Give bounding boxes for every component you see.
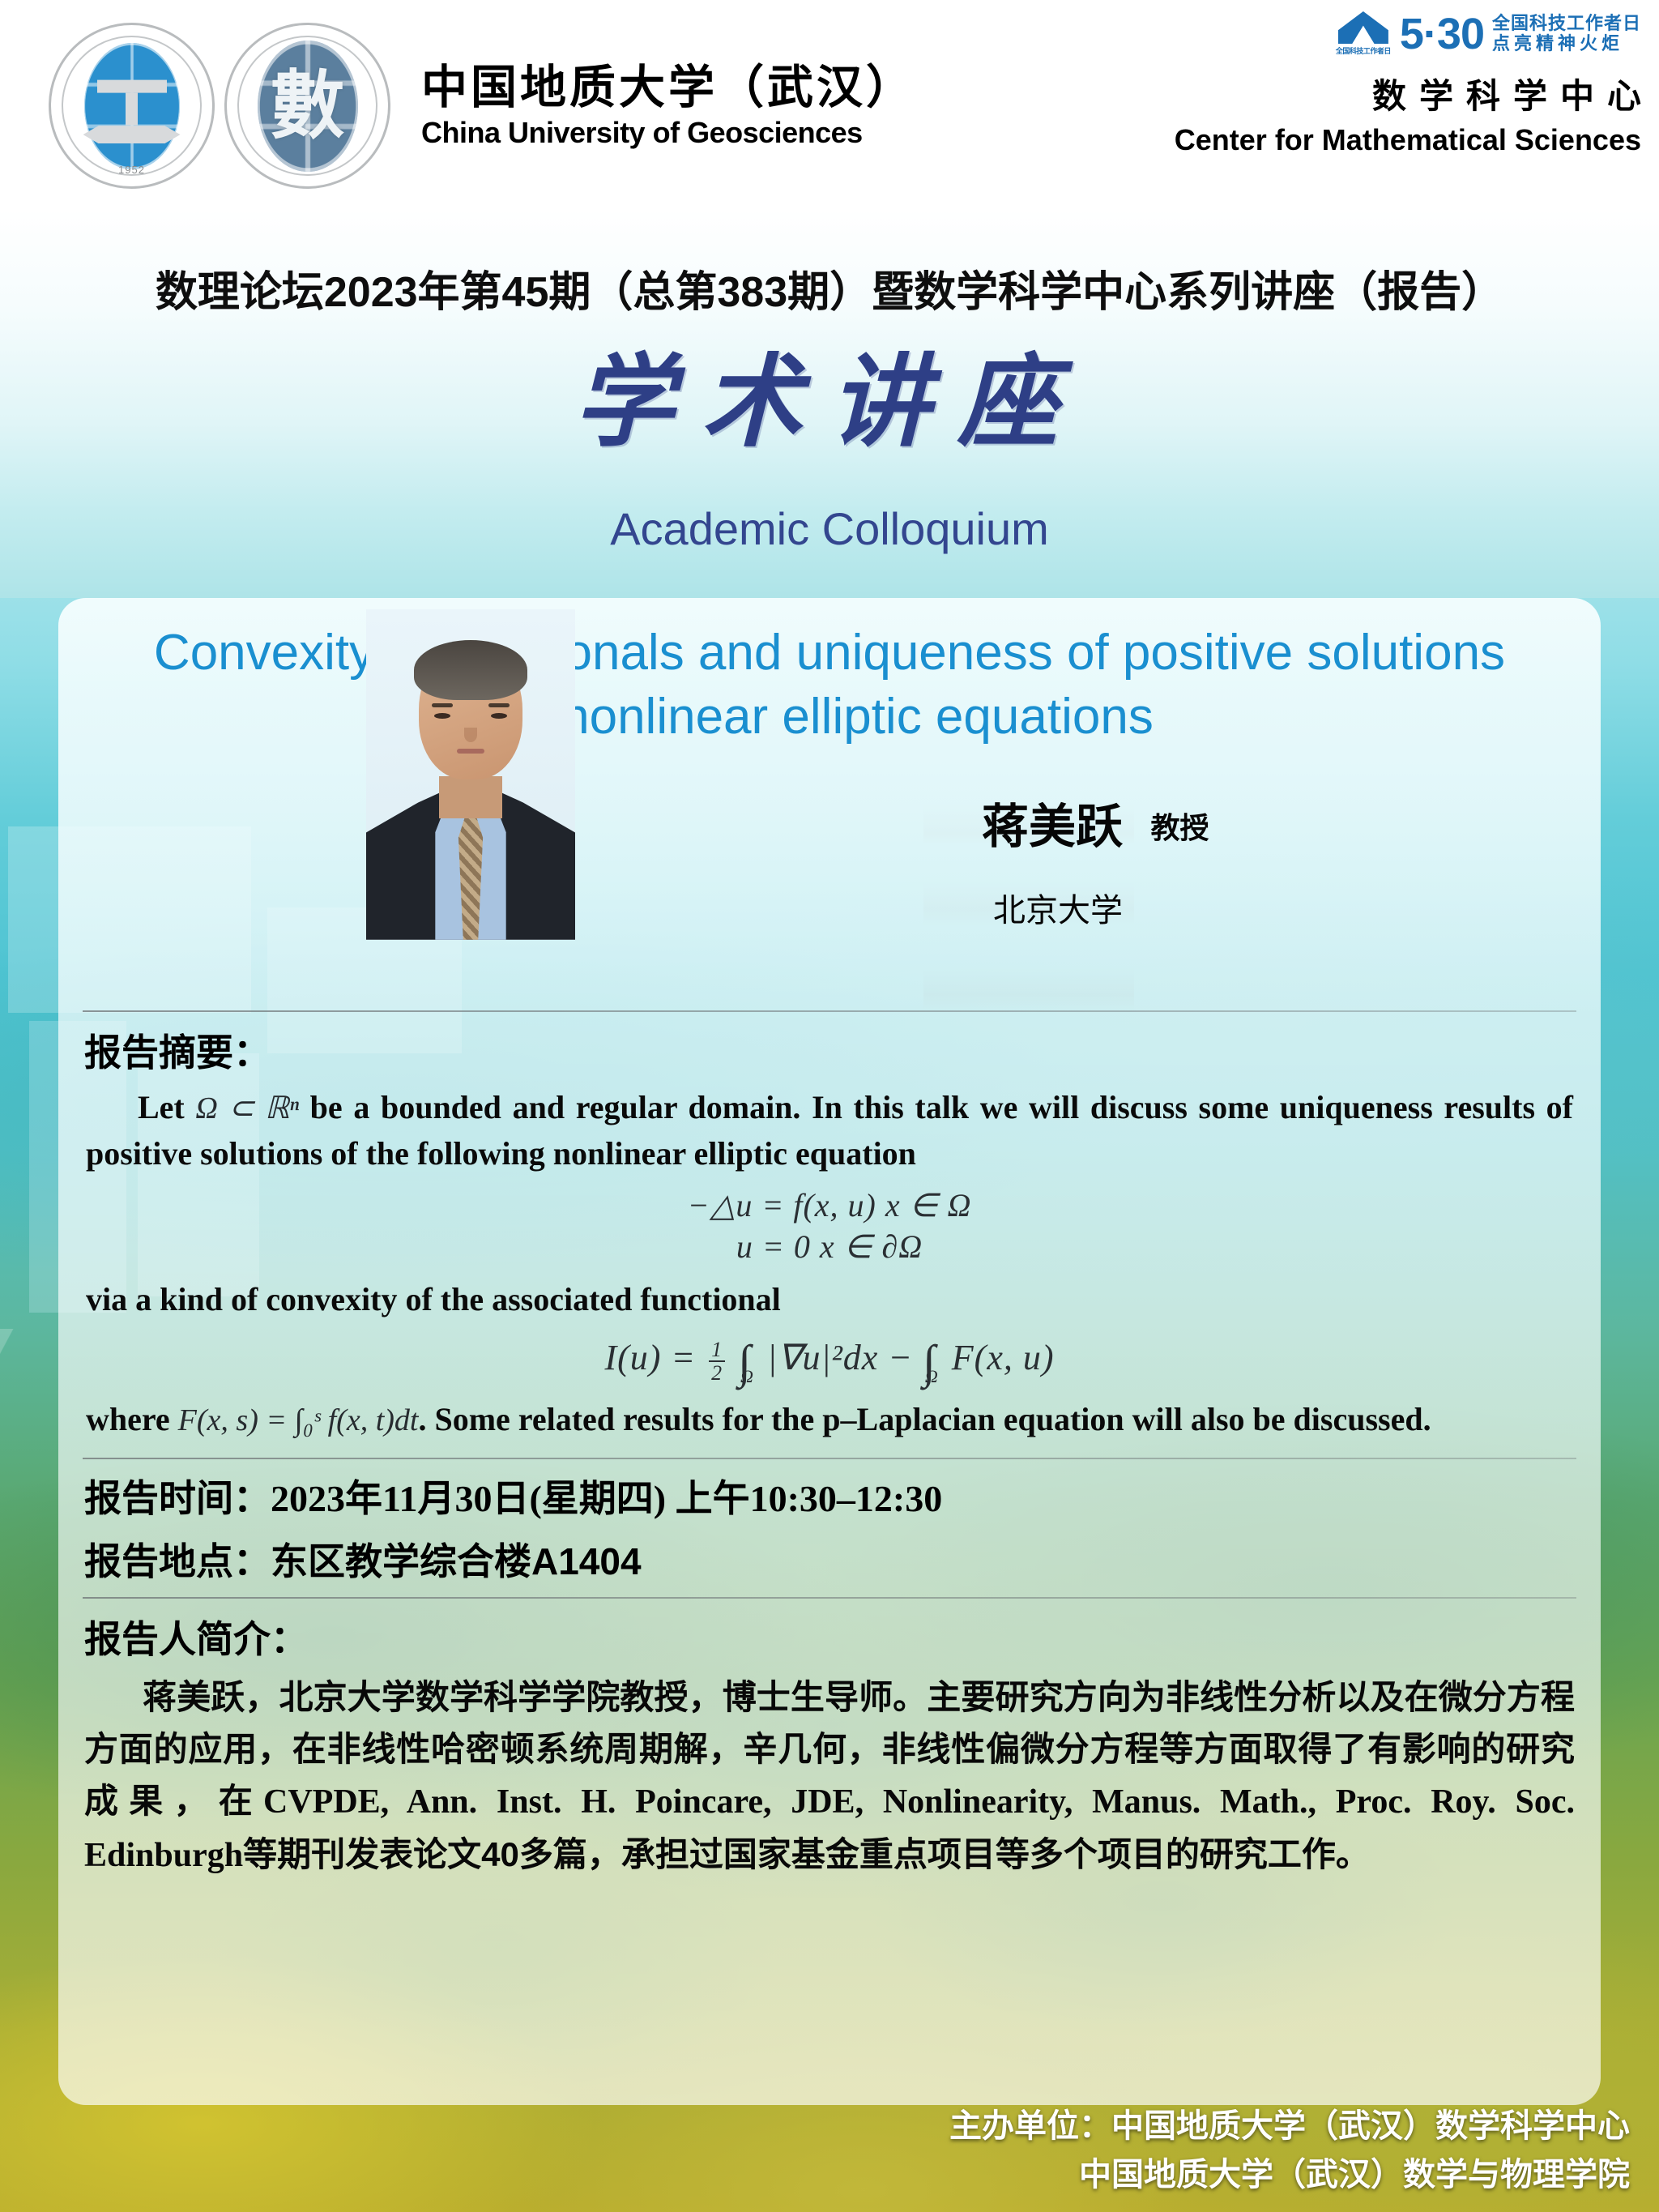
university-name-en: China University of Geosciences <box>421 115 915 150</box>
talk-time-line: 报告时间：2023年11月30日(星期四) 上午10:30–12:30 <box>84 1469 1601 1522</box>
eq3-mid: |∇u|²dx − <box>767 1338 913 1377</box>
equation-1: −△u = f(x, u) x ∈ Ω <box>58 1186 1601 1224</box>
university-name-cn: 中国地质大学（武汉） <box>421 62 915 115</box>
abstract-paragraph-3: where F(x, s) = ∫₀ˢ f(x, t)dt. Some rela… <box>58 1397 1601 1443</box>
science-day-slogan: 全国科技工作者日 点亮精神火炬 <box>1492 14 1641 53</box>
eq3-int2-sub: Ω <box>925 1366 939 1386</box>
bio-heading: 报告人简介： <box>84 1610 1601 1663</box>
bio-text-b: 等期刊发表论文40多篇，承担过国家基金重点项目等多个项目的研究工作。 <box>243 1835 1370 1873</box>
center-name-en: Center for Mathematical Sciences <box>1175 123 1641 157</box>
poster-root: 1952 數 中国地质大学（武汉） China University of Ge… <box>0 0 1659 2212</box>
math-seal-glyph: 數 <box>270 69 344 143</box>
abstract-p1-a: Let <box>138 1089 195 1125</box>
cug-seal-year: 1952 <box>118 164 145 176</box>
talk-time-label: 报告时间： <box>84 1477 271 1519</box>
math-school-seal-icon: 數 <box>224 23 390 189</box>
science-day-slogan-line1: 全国科技工作者日 <box>1492 14 1641 34</box>
abstract-p1-b: be a bounded and regular domain. In this… <box>86 1089 1573 1172</box>
speaker-portrait <box>366 609 575 940</box>
divider-above-bio <box>83 1597 1576 1599</box>
abstract-paragraph-1: Let Ω ⊂ ℝⁿ be a bounded and regular doma… <box>58 1085 1601 1177</box>
eq3-frac-denominator: 2 <box>711 1361 723 1385</box>
abstract-p3-b: . Some related results for the p–Laplaci… <box>418 1401 1431 1437</box>
university-name-block: 中国地质大学（武汉） China University of Geoscienc… <box>421 62 915 150</box>
eq3-int1-sub: Ω <box>740 1366 754 1386</box>
talk-title: Convexity of functionals and uniqueness … <box>58 621 1601 749</box>
divider-above-details <box>83 1458 1576 1459</box>
calligraphy-title-en: Academic Colloquium <box>0 502 1659 555</box>
divider-above-abstract <box>83 1010 1576 1012</box>
science-day-slogan-line2: 点亮精神火炬 <box>1492 34 1641 54</box>
header-logos: 1952 數 中国地质大学（武汉） China University of Ge… <box>49 23 915 189</box>
science-workers-day-logo: 全国科技工作者日 5·30 全国科技工作者日 点亮精神火炬 <box>1175 11 1641 56</box>
talk-place-line: 报告地点：东区教学综合楼A1404 <box>84 1532 1601 1586</box>
bio-paragraph: 蒋美跃，北京大学数学科学学院教授，博士生导师。主要研究方向为非线性分析以及在微分… <box>58 1672 1601 1881</box>
equation-2: u = 0 x ∈ ∂Ω <box>58 1228 1601 1266</box>
center-name-cn: 数学科学中心 <box>1175 69 1654 118</box>
calligraphy-title-cn: 学术讲座 <box>0 348 1659 459</box>
talk-place-value: 东区教学综合楼A1404 <box>271 1540 642 1582</box>
header-right-block: 全国科技工作者日 5·30 全国科技工作者日 点亮精神火炬 数学科学中心 Cen… <box>1175 11 1641 157</box>
speaker-affiliation: 北京大学 <box>993 884 1209 931</box>
main-content-card: Convexity of functionals and uniqueness … <box>58 598 1601 2105</box>
science-day-date: 5·30 <box>1400 12 1484 56</box>
eq3-frac-numerator: 1 <box>709 1339 725 1362</box>
footer-organizer-line2: 中国地质大学（武汉）数学与物理学院 <box>949 2150 1630 2199</box>
footer-organizer-line1: 主办单位：中国地质大学（武汉）数学科学中心 <box>949 2102 1630 2150</box>
abstract-paragraph-2: via a kind of convexity of the associate… <box>58 1277 1601 1323</box>
talk-title-line1: Convexity of functionals and uniqueness … <box>91 621 1568 685</box>
speaker-name: 蒋美跃 <box>982 788 1123 856</box>
science-day-mark-caption: 全国科技工作者日 <box>1335 45 1392 56</box>
speaker-title: 教授 <box>1150 805 1209 847</box>
talk-title-line2: of nonlinear elliptic equations <box>91 685 1568 749</box>
cug-seal-icon: 1952 <box>49 23 215 189</box>
eq3-tail: F(x, u) <box>952 1338 1055 1377</box>
equation-3-functional: I(u) = 1 2 ∫Ω |∇u|²dx − ∫Ω F(x, u) <box>58 1334 1601 1389</box>
talk-time-value: 2023年11月30日(星期四) 上午10:30–12:30 <box>271 1478 942 1519</box>
eq3-fraction: 1 2 <box>709 1339 725 1385</box>
speaker-row: 蒋美跃 教授 北京大学 <box>58 767 1601 1010</box>
poster-header: 1952 數 中国地质大学（武汉） China University of Ge… <box>0 0 1659 209</box>
abstract-p1-math: Ω ⊂ ℝⁿ <box>195 1091 299 1125</box>
abstract-heading: 报告摘要： <box>84 1023 1601 1077</box>
talk-place-label: 报告地点： <box>84 1540 271 1582</box>
abstract-p3-a: where <box>86 1401 178 1437</box>
eq3-lhs: I(u) = <box>604 1338 696 1377</box>
poster-footer: 主办单位：中国地质大学（武汉）数学科学中心 中国地质大学（武汉）数学与物理学院 <box>949 2102 1630 2199</box>
abstract-p3-math: F(x, s) = ∫₀ˢ f(x, t)dt <box>178 1403 419 1437</box>
speaker-meta: 蒋美跃 教授 北京大学 <box>982 788 1209 931</box>
forum-series-line: 数理论坛2023年第45期（总第383期）暨数学科学中心系列讲座（报告） <box>0 258 1659 318</box>
science-day-mark-icon: 全国科技工作者日 <box>1335 11 1392 56</box>
